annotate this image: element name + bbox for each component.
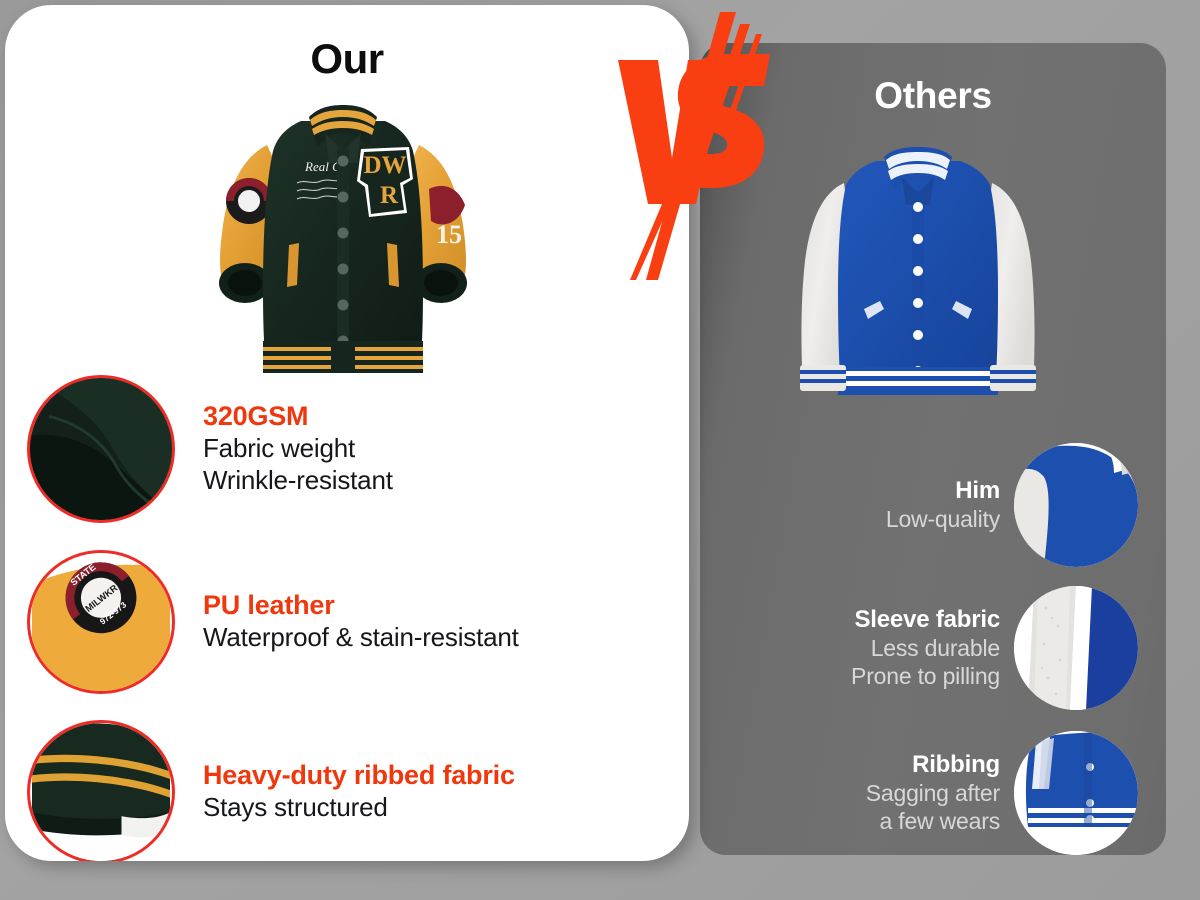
our-feature-row: Heavy-duty ribbed fabric Stays structure… bbox=[27, 720, 677, 861]
others-feature-row: Him Low-quality bbox=[718, 443, 1138, 567]
others-feature-heading: Ribbing bbox=[866, 751, 1000, 780]
others-feature-heading: Him bbox=[886, 477, 1000, 506]
our-feature-heading: PU leather bbox=[203, 590, 519, 622]
others-title: Others bbox=[700, 75, 1166, 117]
others-feature-text: Him Low-quality bbox=[886, 477, 1000, 534]
sleeve-fabric-thumbnail bbox=[1014, 586, 1138, 710]
others-feature-line: Prone to pilling bbox=[851, 662, 1000, 690]
our-feature-heading: 320GSM bbox=[203, 401, 393, 433]
him-quality-thumbnail bbox=[1014, 443, 1138, 567]
others-feature-row: Ribbing Sagging after a few wears bbox=[718, 731, 1138, 855]
comparison-infographic: Others bbox=[0, 0, 1200, 900]
our-feature-row: 320GSM Fabric weight Wrinkle-resistant bbox=[27, 375, 677, 523]
others-feature-line: a few wears bbox=[866, 807, 1000, 835]
others-feature-line: Less durable bbox=[851, 634, 1000, 662]
others-panel: Others bbox=[700, 43, 1166, 855]
others-feature-line: Sagging after bbox=[866, 779, 1000, 807]
others-jacket-image bbox=[772, 131, 1064, 416]
our-feature-line: Wrinkle-resistant bbox=[203, 465, 393, 497]
our-feature-text: 320GSM Fabric weight Wrinkle-resistant bbox=[203, 401, 393, 496]
our-feature-text: PU leather Waterproof & stain-resistant bbox=[203, 590, 519, 654]
our-feature-line: Fabric weight bbox=[203, 433, 393, 465]
ribbing-thumbnail bbox=[1014, 731, 1138, 855]
fabric-weight-thumbnail bbox=[27, 375, 175, 523]
svg-text:DW: DW bbox=[363, 152, 406, 179]
others-feature-row: Sleeve fabric Less durable Prone to pill… bbox=[718, 586, 1138, 710]
others-feature-text: Sleeve fabric Less durable Prone to pill… bbox=[851, 606, 1000, 691]
pu-leather-thumbnail: STATE MILWKR 972-973 bbox=[27, 550, 175, 694]
our-feature-line: Waterproof & stain-resistant bbox=[203, 622, 519, 654]
others-feature-heading: Sleeve fabric bbox=[851, 606, 1000, 635]
others-feature-text: Ribbing Sagging after a few wears bbox=[866, 751, 1000, 836]
our-feature-heading: Heavy-duty ribbed fabric bbox=[203, 760, 515, 792]
our-feature-line: Stays structured bbox=[203, 792, 515, 824]
our-jacket-image: 15 DW R Real G bbox=[193, 93, 493, 385]
our-title: Our bbox=[5, 35, 689, 83]
our-card: Our bbox=[5, 5, 689, 861]
sleeve-number-text: 15 bbox=[436, 220, 462, 249]
our-feature-text: Heavy-duty ribbed fabric Stays structure… bbox=[203, 760, 515, 824]
svg-text:R: R bbox=[380, 182, 399, 209]
others-feature-line: Low-quality bbox=[886, 505, 1000, 533]
ribbed-fabric-thumbnail bbox=[27, 720, 175, 861]
our-feature-row: STATE MILWKR 972-973 PU leather Waterpro… bbox=[27, 550, 677, 694]
script-embroidery: Real G bbox=[304, 159, 342, 174]
